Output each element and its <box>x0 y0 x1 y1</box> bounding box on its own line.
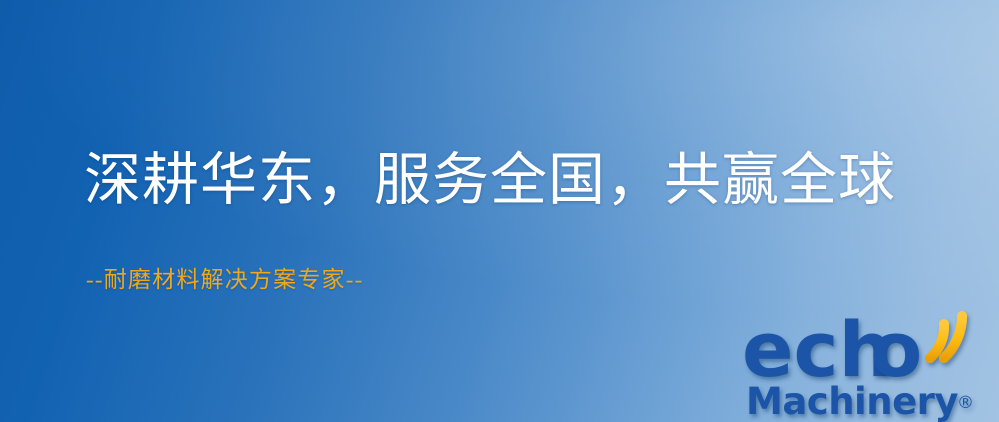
hero-banner: 深耕华东，服务全国，共赢全球 --耐磨材料解决方案专家-- <box>0 0 999 422</box>
logo-trademark-symbol: ® <box>957 393 974 413</box>
echo-wave-icon <box>930 316 962 358</box>
page-title: 深耕华东，服务全国，共赢全球 <box>84 152 896 209</box>
company-logo[interactable]: ech o Machinery ® <box>742 296 999 422</box>
logo-tagline: Machinery <box>746 380 958 422</box>
page-subtitle: --耐磨材料解决方案专家-- <box>86 268 363 291</box>
